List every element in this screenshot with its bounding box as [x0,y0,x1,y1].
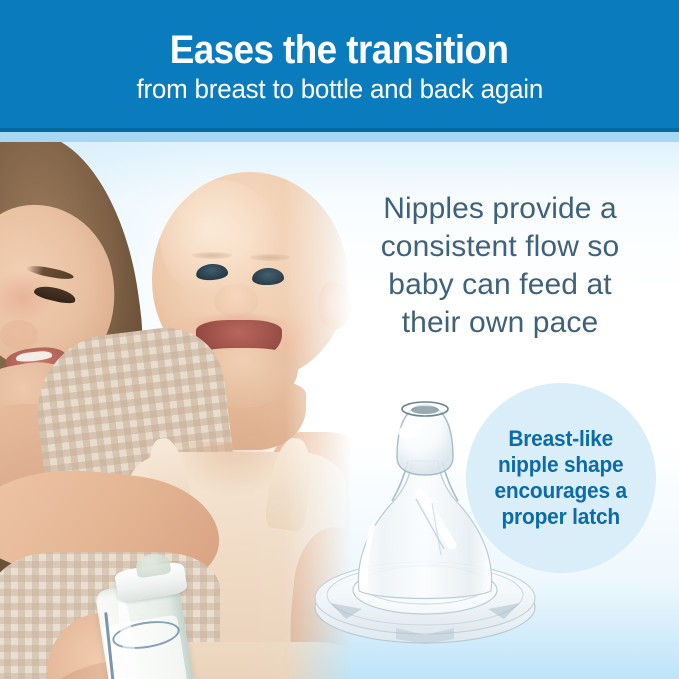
paragraph-line-2: consistent flow so [340,228,660,266]
header-banner: Eases the transition from breast to bott… [0,0,679,132]
feature-paragraph: Nipples provide a consistent flow so bab… [340,190,660,342]
mother-nose [0,320,38,350]
paragraph-line-4: their own pace [340,304,660,342]
banner-subtitle: from breast to bottle and back again [136,74,543,105]
bottle-nipple-product [300,395,550,650]
baby-eyebrow-right [250,254,290,261]
baby-eyebrow-left [192,252,232,259]
paragraph-line-3: baby can feed at [340,266,660,304]
banner-title: Eases the transition [170,28,509,72]
banner-accent-strip [0,132,679,142]
nipple-tip-hole [411,406,439,414]
baby-eye-right [252,267,285,285]
paragraph-line-1: Nipples provide a [340,190,660,228]
nipple-skirt [358,461,491,599]
promo-image: Breast-like nipple shape encourages a pr… [0,0,679,679]
nipple-svg [300,395,550,650]
